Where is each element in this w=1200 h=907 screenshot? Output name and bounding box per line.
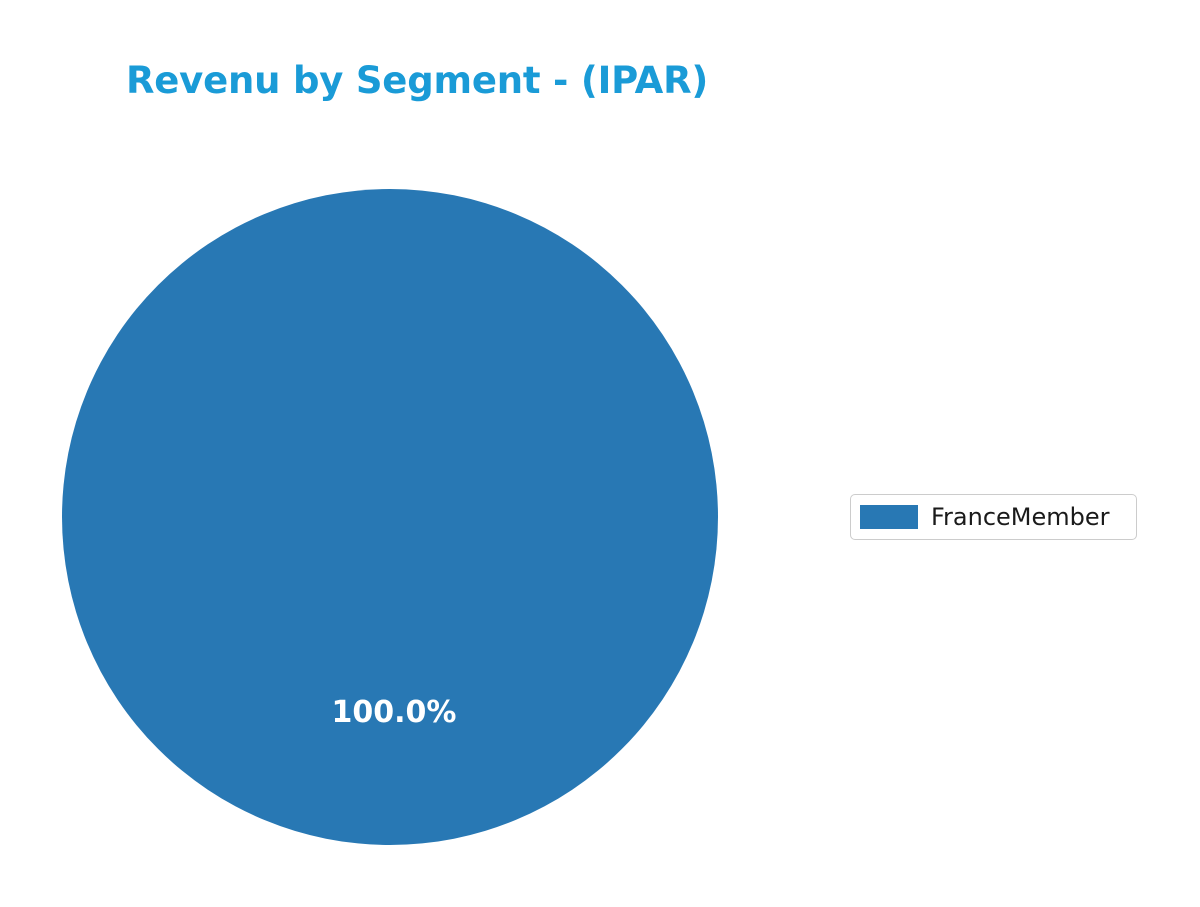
pie-slice-francemember[interactable] [62,189,718,845]
chart-legend[interactable]: FranceMember [850,494,1137,540]
legend-color-swatch-icon [860,505,918,529]
pie-slice-percent-label: 100.0% [332,695,457,730]
pie-plot-area: 100.0% [0,0,840,907]
legend-item-francemember[interactable]: FranceMember [860,505,1110,529]
legend-item-label: FranceMember [931,505,1110,529]
pie-chart-figure: Revenu by Segment - (IPAR) 100.0% France… [0,0,1200,907]
pie-svg: 100.0% [0,0,840,907]
